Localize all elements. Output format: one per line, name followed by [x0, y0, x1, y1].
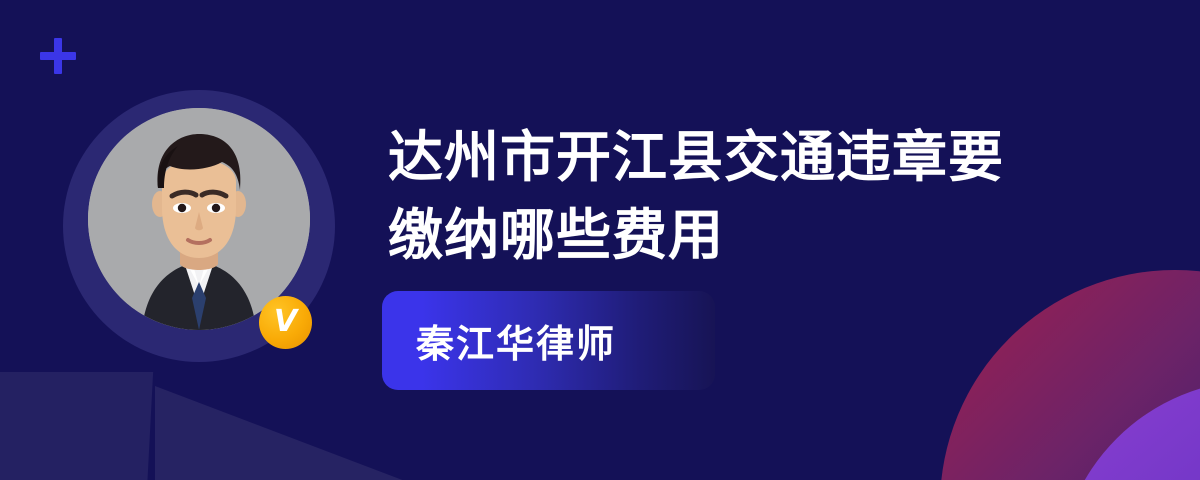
page-title-line-2: 缴纳哪些费用: [388, 196, 1088, 274]
decorative-triangle-left: [155, 386, 405, 480]
lawyer-name-badge[interactable]: 秦江华律师: [382, 291, 715, 390]
decorative-rectangle-left: [0, 372, 153, 480]
page-title: 达州市开江县交通违章要 缴纳哪些费用: [388, 118, 1088, 274]
verified-badge-glyph: V: [274, 307, 297, 337]
verified-badge-icon: V: [259, 296, 312, 349]
plus-icon: [40, 38, 76, 74]
lawyer-question-banner: V 达州市开江县交通违章要 缴纳哪些费用 秦江华律师: [0, 0, 1200, 480]
lawyer-name-label: 秦江华律师: [382, 313, 616, 368]
page-title-line-1: 达州市开江县交通违章要: [388, 118, 1088, 196]
plus-icon-vertical-bar: [54, 38, 62, 74]
